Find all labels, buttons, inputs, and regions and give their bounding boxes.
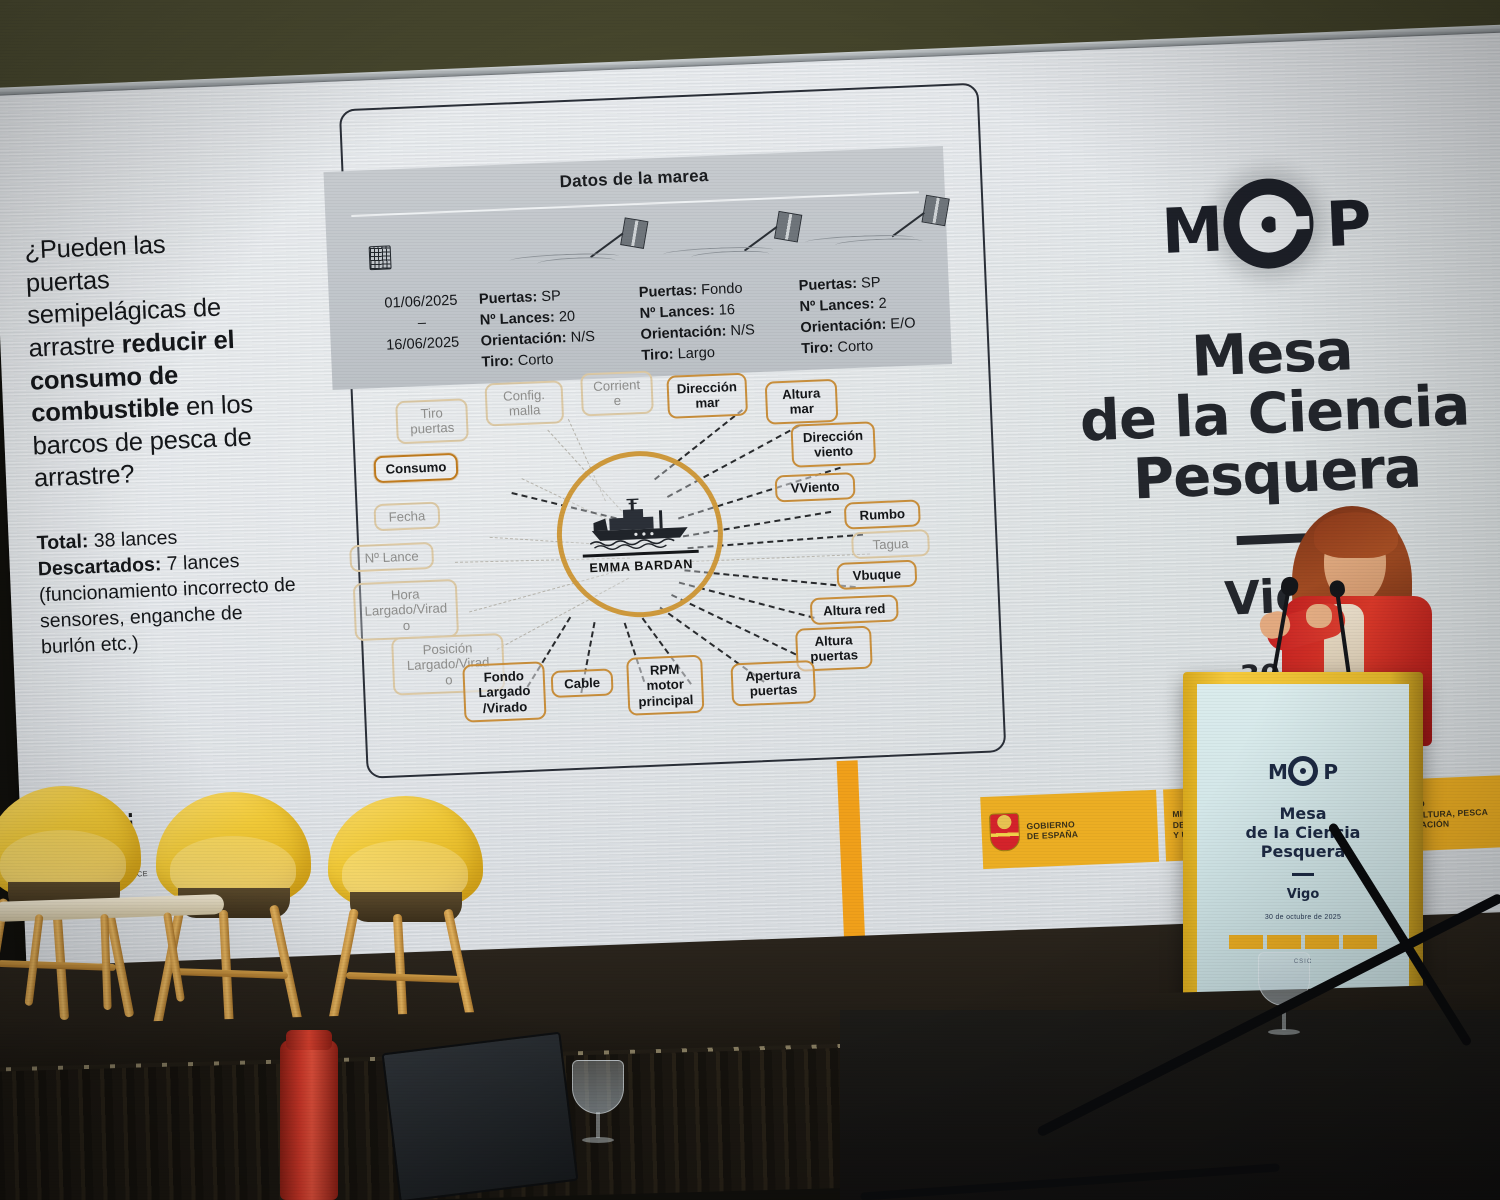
mindmap-node-altura-red[interactable]: Altura red — [810, 594, 899, 625]
podium-divider — [1292, 873, 1314, 876]
mindmap-node-rumbo[interactable]: Rumbo — [844, 499, 921, 529]
mindmap-node-vbuque[interactable]: Vbuque — [836, 560, 917, 591]
mindmap-node-no-lance[interactable]: Nº Lance — [349, 542, 434, 573]
trawl-door-icon — [502, 216, 664, 281]
wine-glass — [572, 1060, 624, 1146]
mindmap-node-altura-mar[interactable]: Altura mar — [765, 379, 839, 425]
mindmap-node-tiro-puertas[interactable]: Tiro puertas — [395, 398, 469, 444]
marea-column-3: Puertas: SP Nº Lances: 2 Orientación: E/… — [798, 270, 951, 360]
podium-logo-row — [1197, 935, 1409, 949]
research-vessel-icon — [582, 493, 696, 552]
podium-date: 30 de octubre de 2025 — [1197, 914, 1409, 921]
trawl-door-icon — [803, 203, 965, 268]
mindmap-node-corriente[interactable]: Corrient e — [580, 371, 654, 417]
podium-mcp-logo: M P — [1268, 756, 1338, 786]
mindmap-node-apertura-puertas[interactable]: Apertura puertas — [730, 660, 816, 706]
tablet-device[interactable] — [382, 1032, 579, 1200]
mcp-circle-icon — [1222, 177, 1316, 271]
trawl-door-icon — [656, 210, 818, 275]
mindmap-node-cable[interactable]: Cable — [551, 668, 614, 698]
marea-panel: Datos de la marea — [323, 146, 952, 390]
mindmap-node-hora-largado[interactable]: Hora Largado/Virad o — [353, 579, 459, 641]
mindmap-node-tagua[interactable]: Tagua — [851, 529, 930, 560]
mindmap: EMMA BARDAN Tiro puertas Config. malla C… — [332, 355, 988, 781]
mindmap-node-rpm-motor[interactable]: RPM motor principal — [626, 655, 704, 716]
gobierno-de-espana-logo: GOBIERNO DE ESPAÑA — [980, 790, 1159, 869]
mindmap-node-direccion-mar[interactable]: Dirección mar — [666, 373, 748, 419]
mindmap-node-fondo-largado[interactable]: Fondo Largado /Virado — [462, 661, 546, 722]
mindmap-node-config-malla[interactable]: Config. malla — [484, 380, 564, 426]
bottle-cap — [286, 1030, 332, 1050]
slide-question-title: ¿Pueden las puertas semipelágicas de arr… — [24, 222, 335, 495]
banner-title: Mesa de la Ciencia Pesquera — [1001, 313, 1500, 515]
slide-stats: Total: 38 lances Descartados: 7 lances (… — [36, 519, 341, 661]
water-bottle — [280, 1040, 338, 1200]
marea-column-2: Puertas: Fondo Nº Lances: 16 Orientación… — [638, 276, 801, 367]
marea-column-1: Puertas: SP Nº Lances: 20 Orientación: N… — [479, 283, 642, 374]
mcp-logo-letter-p: P — [1325, 192, 1373, 256]
mindmap-node-direccion-viento[interactable]: Dirección viento — [790, 421, 876, 467]
mindmap-node-vviento[interactable]: VViento — [775, 472, 856, 503]
mindmap-node-fecha[interactable]: Fecha — [373, 502, 440, 532]
podium-title: Mesa de la Ciencia Pesquera — [1197, 804, 1409, 862]
hub-label: EMMA BARDAN — [589, 557, 693, 575]
marea-date-column: 01/06/2025 – 16/06/2025 — [329, 290, 482, 380]
mcp-circle-icon — [1288, 756, 1318, 786]
mindmap-node-consumo[interactable]: Consumo — [373, 453, 458, 484]
mcp-logo: M P — [1160, 174, 1374, 275]
spain-coat-of-arms-icon — [989, 813, 1021, 852]
mindmap-link — [671, 594, 796, 655]
hub-divider — [583, 550, 699, 558]
side-table — [0, 898, 224, 1010]
chair — [324, 796, 489, 1021]
calendar-icon — [369, 245, 392, 270]
slide-question-column: ¿Pueden las puertas semipelágicas de arr… — [24, 222, 342, 661]
conference-stage-photo: ¿Pueden las puertas semipelágicas de arr… — [0, 0, 1500, 1200]
mcp-logo-letter-m: M — [1160, 198, 1224, 263]
mindmap-hub: EMMA BARDAN — [554, 448, 727, 621]
